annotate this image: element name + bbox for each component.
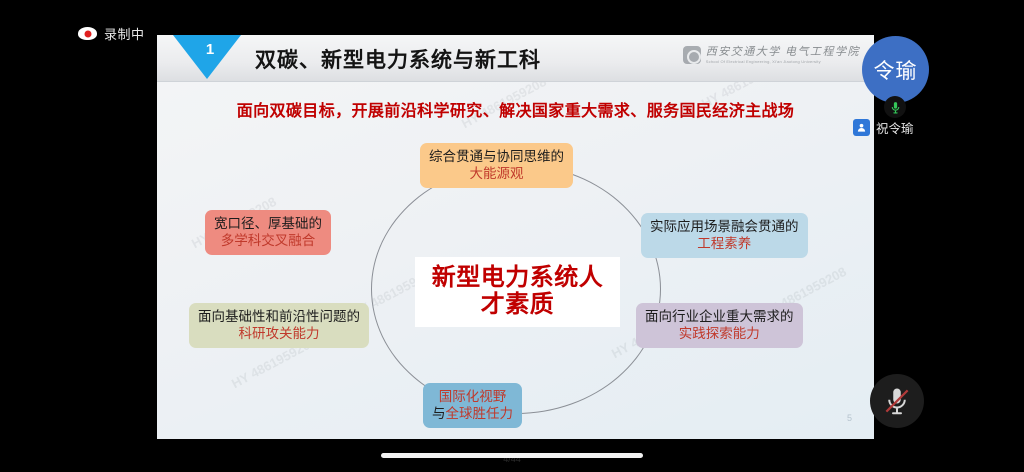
node-top: 综合贯通与协同思维的 大能源观 (420, 143, 573, 188)
shared-slide[interactable]: HY 4861959208 HY 4861959208 HY 486195920… (157, 35, 874, 439)
node-bottom-line2-highlight: 全球胜任力 (446, 406, 514, 421)
node-bottom-left-line2: 科研攻关能力 (198, 325, 360, 342)
home-indicator-bar[interactable] (381, 453, 643, 458)
node-left-line1: 宽口径、厚基础的 (214, 215, 322, 232)
slide-page-number: 5 (847, 413, 852, 423)
slide-header: 1 双碳、新型电力系统与新工科 西安交通大学 电气工程学院 School Of … (157, 35, 874, 82)
center-label: 新型电力系统人 才素质 (415, 257, 620, 327)
section-number: 1 (197, 41, 223, 58)
recording-label: 录制中 (104, 24, 145, 43)
node-top-line2: 大能源观 (429, 165, 564, 182)
university-emblem-icon (683, 46, 701, 64)
node-bottom-right-line2: 实践探索能力 (645, 325, 794, 342)
microphone-mute-button[interactable] (870, 374, 924, 428)
university-name-en: School Of Electrical Engineering, Xi'an … (706, 60, 860, 64)
node-right-line1: 实际应用场景融会贯通的 (650, 218, 799, 235)
recording-indicator: 录制中 (78, 24, 145, 43)
node-bottom-right-line1: 面向行业企业重大需求的 (645, 308, 794, 325)
node-bottom: 国际化视野 与全球胜任力 (423, 383, 522, 428)
node-bottom-line2-prefix: 与 (432, 406, 446, 421)
microphone-on-icon (884, 96, 906, 118)
person-icon (853, 119, 870, 136)
node-right: 实际应用场景融会贯通的 工程素养 (641, 213, 808, 258)
university-logo: 西安交通大学 电气工程学院 School Of Electrical Engin… (683, 46, 860, 64)
node-top-line1: 综合贯通与协同思维的 (429, 148, 564, 165)
node-left-line2: 多学科交叉融合 (214, 232, 322, 249)
center-label-line1: 新型电力系统人 (432, 265, 604, 292)
node-bottom-right: 面向行业企业重大需求的 实践探索能力 (636, 303, 803, 348)
slide-title: 双碳、新型电力系统与新工科 (255, 44, 541, 74)
node-bottom-line2: 与全球胜任力 (432, 405, 513, 422)
participant-name-row: 祝令瑜 (853, 118, 914, 137)
node-bottom-line1: 国际化视野 (432, 388, 513, 405)
node-right-line2: 工程素养 (650, 235, 799, 252)
slide-subtitle: 面向双碳目标，开展前沿科学研究、解决国家重大需求、服务国民经济主战场 (157, 97, 874, 121)
avatar[interactable]: 令瑜 (862, 36, 929, 103)
record-dot-icon (78, 27, 97, 40)
participant-name: 祝令瑜 (876, 118, 914, 137)
center-label-line2: 才素质 (481, 292, 555, 319)
university-name-cn: 西安交通大学 电气工程学院 (706, 47, 860, 58)
node-bottom-left: 面向基础性和前沿性问题的 科研攻关能力 (189, 303, 369, 348)
node-left: 宽口径、厚基础的 多学科交叉融合 (205, 210, 331, 255)
screen-root: 录制中 HY 4861959208 HY 4861959208 HY 48619… (0, 0, 1024, 472)
node-bottom-left-line1: 面向基础性和前沿性问题的 (198, 308, 360, 325)
